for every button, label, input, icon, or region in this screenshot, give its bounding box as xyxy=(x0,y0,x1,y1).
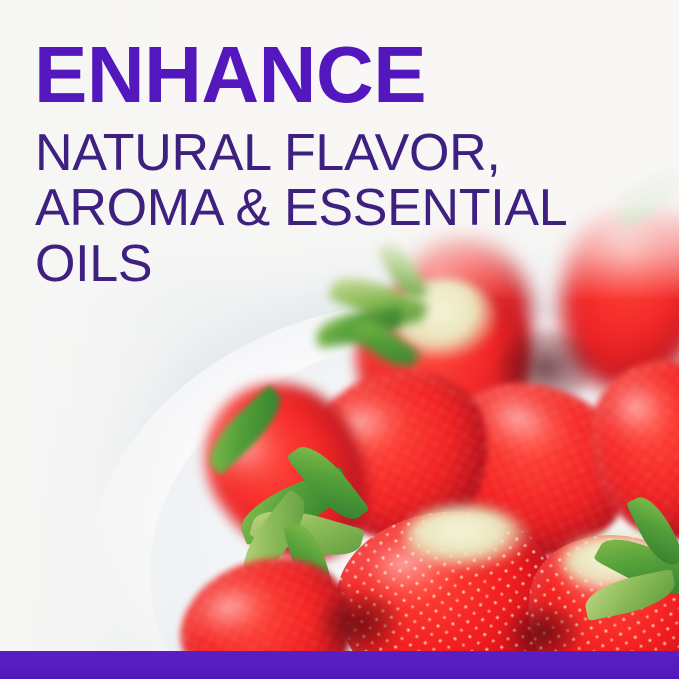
bottom-brand-bar xyxy=(0,651,679,679)
subheading-line-3: OILS xyxy=(35,237,654,293)
berry-gap-shadow xyxy=(506,604,580,651)
product-banner: ENHANCE NATURAL FLAVOR, AROMA & ESSENTIA… xyxy=(0,0,679,679)
strawberry-shoulder xyxy=(404,506,528,568)
banner-text-block: ENHANCE NATURAL FLAVOR, AROMA & ESSENTIA… xyxy=(34,38,654,292)
subheading-line-2: AROMA & ESSENTIAL xyxy=(35,181,654,237)
berry-gap-shadow xyxy=(320,592,400,651)
subheading-line-1: NATURAL FLAVOR, xyxy=(35,126,654,182)
banner-subheading: NATURAL FLAVOR, AROMA & ESSENTIAL OILS xyxy=(35,126,654,293)
page-title: ENHANCE xyxy=(34,38,654,112)
